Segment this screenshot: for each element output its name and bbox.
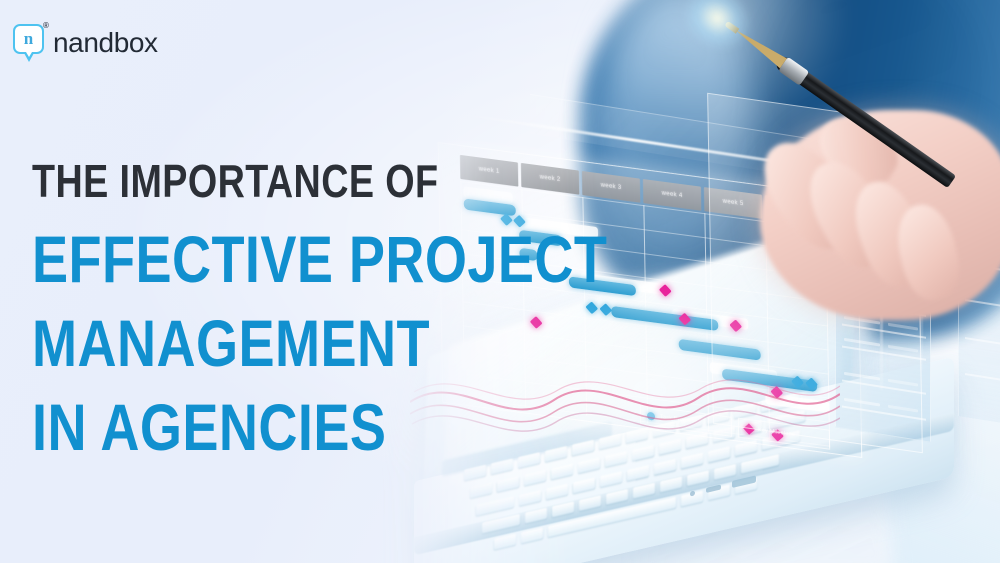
headline-line-1: THE IMPORTANCE OF	[32, 158, 417, 204]
logo-letter: n	[24, 30, 33, 47]
speech-bubble-icon: n	[13, 24, 44, 54]
nandbox-logo-mark: n ®	[13, 24, 44, 62]
speech-bubble-tail-inner-icon	[26, 52, 32, 57]
headline-line-2: EFFECTIVE PROJECT	[32, 226, 417, 292]
nandbox-wordmark: nandbox	[53, 29, 158, 57]
headline-block: THE IMPORTANCE OF EFFECTIVE PROJECT MANA…	[32, 158, 502, 460]
banner-canvas: week 1 week 2 week 3 week 4 week 5 week …	[0, 0, 1000, 563]
registered-trademark-icon: ®	[43, 21, 49, 30]
headline-line-4: IN AGENCIES	[32, 394, 417, 460]
nandbox-logo[interactable]: n ® nandbox	[13, 24, 158, 62]
headline-line-3: MANAGEMENT	[32, 310, 417, 376]
hand-with-stylus	[710, 0, 1000, 320]
